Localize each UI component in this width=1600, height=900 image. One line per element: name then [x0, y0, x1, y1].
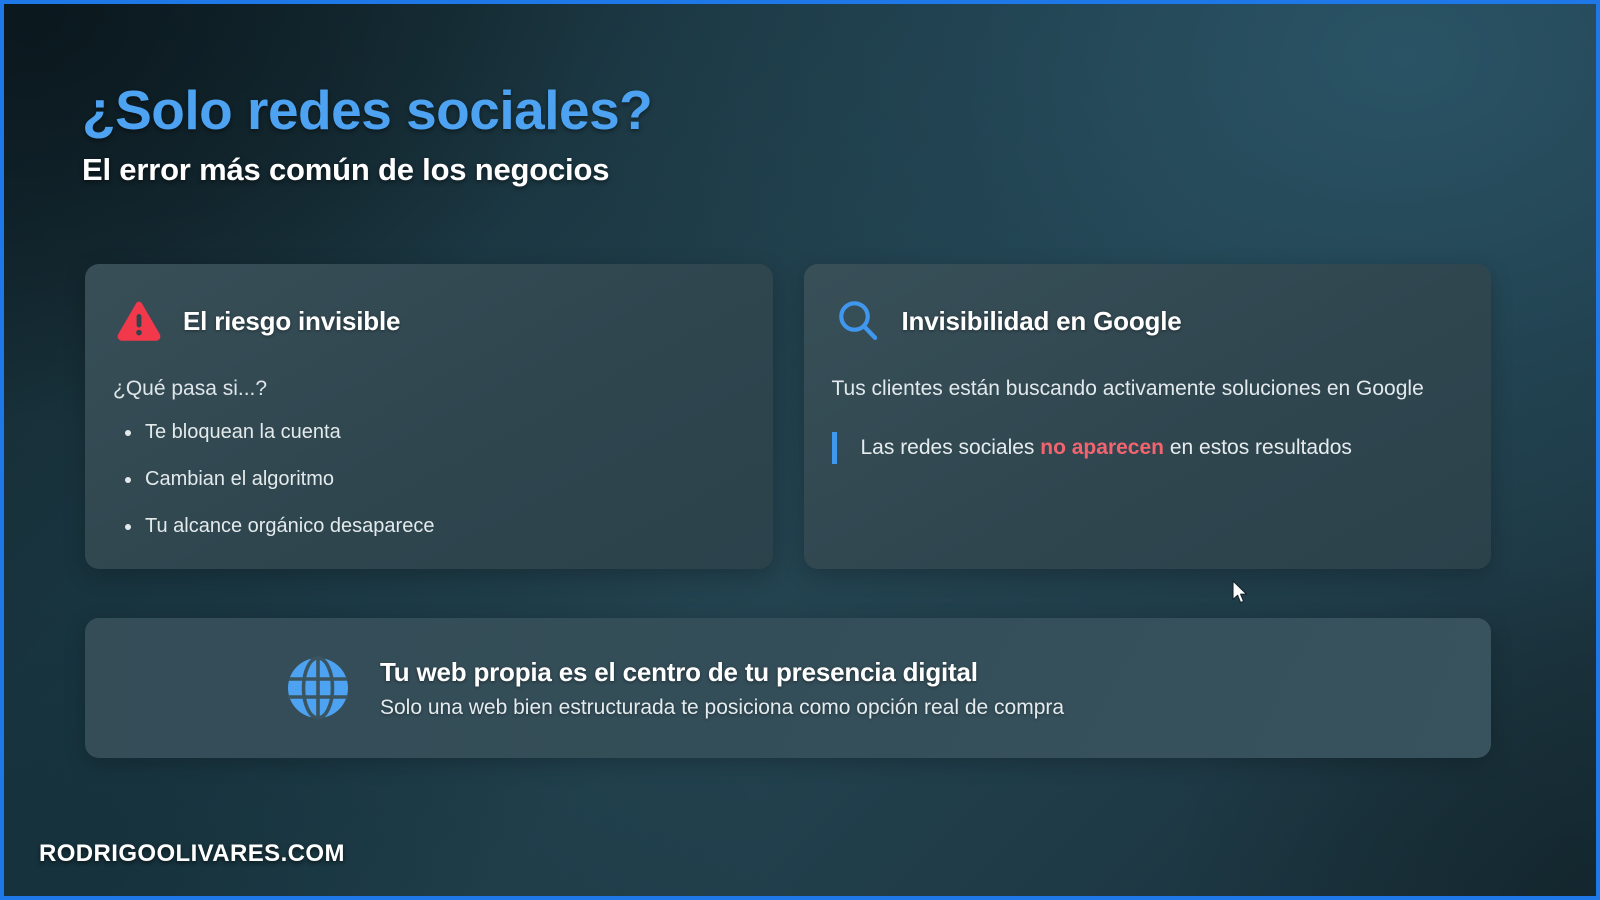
card-header: El riesgo invisible	[113, 297, 743, 345]
page-title: ¿Solo redes sociales?	[82, 82, 1382, 140]
card-lead-text: Tus clientes están buscando activamente …	[832, 373, 1457, 405]
risk-bullet-list: Te bloquean la cuenta Cambian el algorit…	[113, 419, 743, 539]
quote-text-after: en estos resultados	[1164, 436, 1352, 459]
list-item: Te bloquean la cuenta	[113, 419, 743, 445]
banner-subtitle: Solo una web bien estructurada te posici…	[380, 696, 1064, 720]
card-invisibilidad-google: Invisibilidad en Google Tus clientes est…	[804, 264, 1492, 569]
quote-highlight: no aparecen	[1040, 436, 1164, 459]
banner-web-propia: Tu web propia es el centro de tu presenc…	[85, 618, 1491, 758]
quote-text-before: Las redes sociales	[861, 436, 1041, 459]
card-row: El riesgo invisible ¿Qué pasa si...? Te …	[85, 264, 1491, 569]
page-subtitle: El error más común de los negocios	[82, 152, 1382, 188]
globe-icon	[285, 655, 351, 721]
banner-title: Tu web propia es el centro de tu presenc…	[380, 657, 1064, 688]
card-title: El riesgo invisible	[183, 306, 400, 337]
search-icon	[832, 297, 884, 345]
card-lead-text: ¿Qué pasa si...?	[113, 373, 743, 405]
mouse-cursor	[1232, 580, 1250, 611]
footer-website: RODRIGOOLIVARES.COM	[39, 840, 345, 868]
callout-quote: Las redes sociales no aparecen en estos …	[832, 432, 1452, 464]
banner-text-block: Tu web propia es el centro de tu presenc…	[380, 657, 1064, 720]
list-item: Cambian el algoritmo	[113, 466, 743, 492]
list-item: Tu alcance orgánico desaparece	[113, 513, 743, 539]
slide-header: ¿Solo redes sociales? El error más común…	[82, 82, 1382, 188]
slide-canvas: ¿Solo redes sociales? El error más común…	[0, 0, 1600, 900]
card-header: Invisibilidad en Google	[832, 297, 1462, 345]
warning-triangle-icon	[113, 297, 165, 345]
card-riesgo-invisible: El riesgo invisible ¿Qué pasa si...? Te …	[85, 264, 773, 569]
card-title: Invisibilidad en Google	[902, 306, 1182, 337]
